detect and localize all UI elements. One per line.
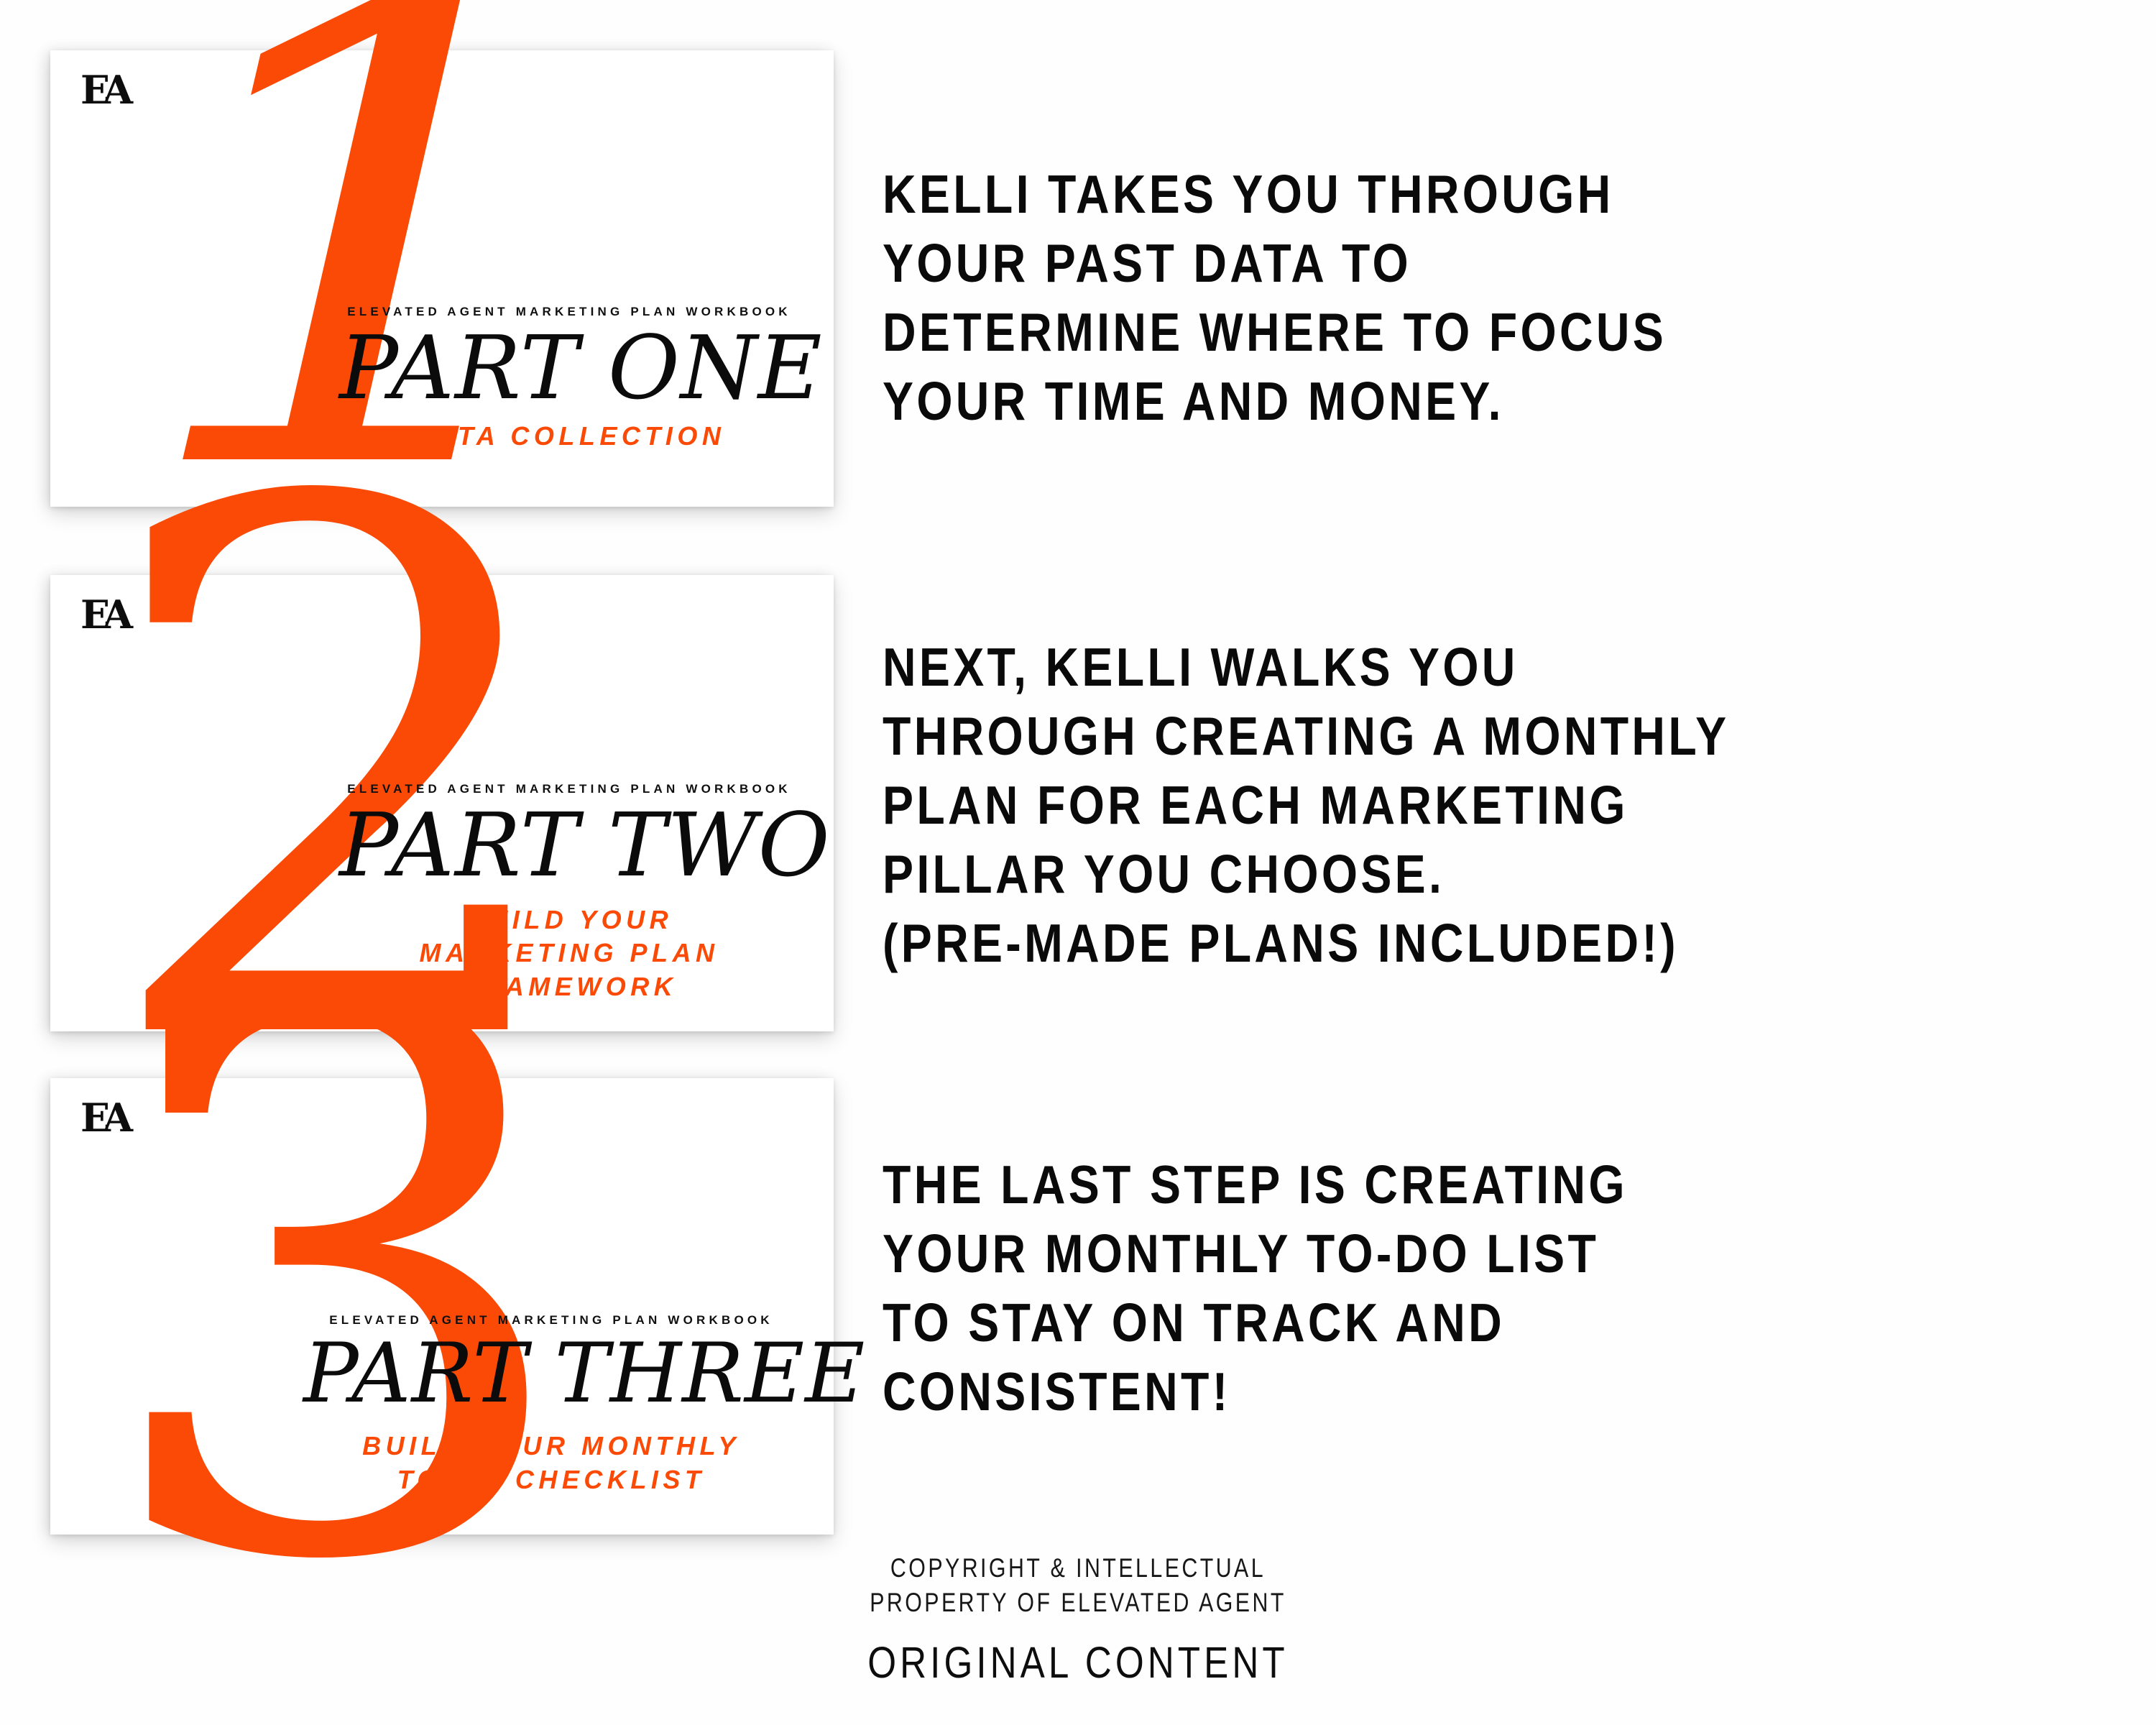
description-line: YOUR PAST DATA TO [883, 229, 1971, 298]
page-footer: COPYRIGHT & INTELLECTUAL PROPERTY OF ELE… [0, 1551, 2156, 1688]
ea-monogram-icon: EA [80, 70, 126, 109]
part-three-subtitle: BUILD YOUR MONTHLY TO-DO CHECKLIST [303, 1430, 799, 1497]
part-cards-column: EA 1 ELEVATED AGENT MARKETING PLAN WORKB… [0, 0, 862, 1581]
workbook-overview-page: EA 1 ELEVATED AGENT MARKETING PLAN WORKB… [0, 0, 2156, 1725]
description-line: DETERMINE WHERE TO FOCUS [883, 298, 1971, 367]
ea-monogram-icon: EA [80, 595, 126, 634]
part-three-name: PART THREE [303, 1332, 799, 1415]
description-line: PILLAR YOU CHOOSE. [883, 839, 1971, 908]
description-part-one: KELLI TAKES YOU THROUGH YOUR PAST DATA T… [883, 160, 1971, 436]
description-part-three: THE LAST STEP IS CREATING YOUR MONTHLY T… [883, 1150, 1971, 1426]
description-line: KELLI TAKES YOU THROUGH [883, 160, 1971, 229]
description-line: CONSISTENT! [883, 1357, 1971, 1426]
part-two-subtitle-line: BUILD YOUR [339, 903, 799, 937]
description-line: YOUR MONTHLY TO-DO LIST [883, 1219, 1971, 1288]
copyright-line-1: COPYRIGHT & INTELLECTUAL [194, 1551, 1962, 1586]
part-one-subtitle-line: DATA COLLECTION [413, 421, 726, 451]
part-two-subtitle-line: MARKETING PLAN [339, 937, 799, 970]
part-one-title-block: ELEVATED AGENT MARKETING PLAN WORKBOOK P… [339, 305, 799, 454]
original-content-label: ORIGINAL CONTENT [172, 1637, 1984, 1688]
part-card-three[interactable]: EA 3 ELEVATED AGENT MARKETING PLAN WORKB… [50, 1078, 834, 1535]
description-line: NEXT, KELLI WALKS YOU [883, 632, 1971, 701]
ea-monogram-icon: EA [80, 1098, 126, 1137]
part-three-subtitle-line: TO-DO CHECKLIST [303, 1463, 799, 1497]
description-line: PLAN FOR EACH MARKETING [883, 770, 1971, 839]
description-line: TO STAY ON TRACK AND [883, 1288, 1971, 1357]
part-two-name: PART TWO [339, 801, 799, 890]
part-card-one[interactable]: EA 1 ELEVATED AGENT MARKETING PLAN WORKB… [50, 50, 834, 507]
part-two-subtitle-line: FRAMEWORK [339, 970, 799, 1004]
part-two-title-block: ELEVATED AGENT MARKETING PLAN WORKBOOK P… [339, 782, 799, 1004]
description-column: KELLI TAKES YOU THROUGH YOUR PAST DATA T… [883, 0, 2155, 1524]
part-card-two[interactable]: EA 2 ELEVATED AGENT MARKETING PLAN WORKB… [50, 575, 834, 1031]
description-part-two: NEXT, KELLI WALKS YOU THROUGH CREATING A… [883, 632, 1971, 977]
description-line: (PRE-MADE PLANS INCLUDED!) [883, 908, 1971, 977]
part-three-subtitle-line: BUILD YOUR MONTHLY [303, 1430, 799, 1463]
copyright-notice: COPYRIGHT & INTELLECTUAL PROPERTY OF ELE… [194, 1551, 1962, 1620]
part-three-title-block: ELEVATED AGENT MARKETING PLAN WORKBOOK P… [303, 1313, 799, 1497]
copyright-line-2: PROPERTY OF ELEVATED AGENT [194, 1586, 1962, 1620]
part-one-subtitle: DATA COLLECTION [339, 420, 799, 454]
description-line: THROUGH CREATING A MONTHLY [883, 701, 1971, 770]
description-line: YOUR TIME AND MONEY. [883, 367, 1971, 436]
part-two-subtitle: BUILD YOUR MARKETING PLAN FRAMEWORK [339, 903, 799, 1004]
description-line: THE LAST STEP IS CREATING [883, 1150, 1971, 1219]
part-one-name: PART ONE [339, 323, 799, 413]
